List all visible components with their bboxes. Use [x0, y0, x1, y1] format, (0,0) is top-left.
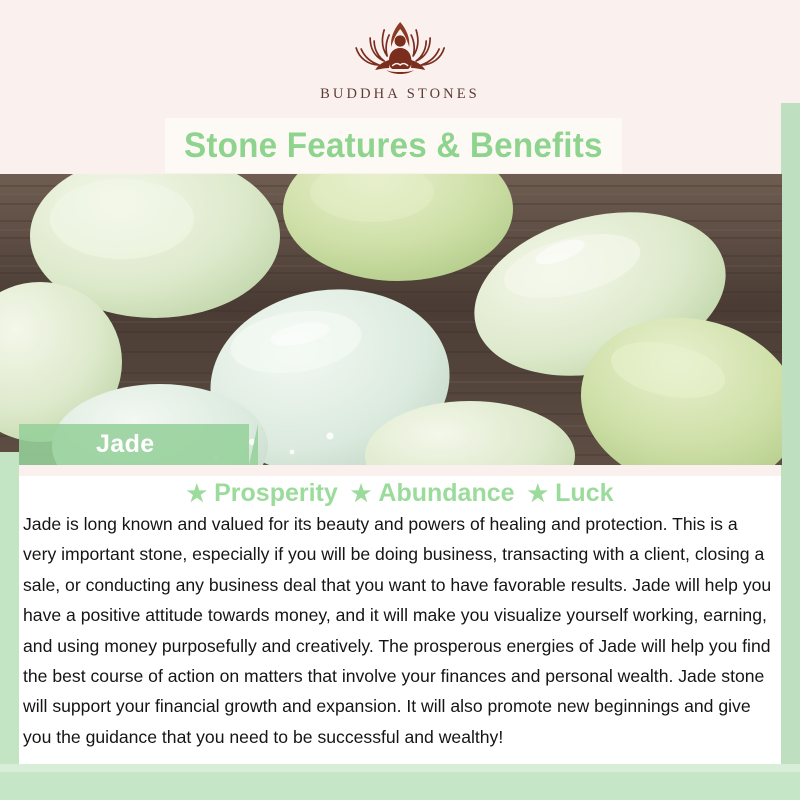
- keyword-label: Abundance: [378, 479, 514, 508]
- page-title: Stone Features & Benefits: [184, 126, 603, 166]
- keyword-label: Prosperity: [214, 479, 338, 508]
- stone-name-label: Jade: [96, 430, 155, 459]
- panel-top-strip: [19, 465, 781, 476]
- stone-photo: [0, 174, 782, 465]
- keyword-item-abundance: ★ Abundance: [351, 479, 515, 508]
- accent-strip-right: [781, 103, 800, 800]
- star-icon: ★: [528, 482, 549, 505]
- header: BUDDHA STONES: [0, 0, 800, 118]
- stone-description: Jade is long known and valued for its be…: [19, 509, 781, 752]
- lotus-meditation-icon: [332, 16, 468, 82]
- keyword-row: ★ Prosperity ★ Abundance ★ Luck: [19, 477, 781, 509]
- accent-strip-left-bottom: [0, 452, 19, 800]
- brand-logo: BUDDHA STONES: [320, 16, 480, 103]
- star-icon: ★: [186, 482, 207, 505]
- brand-name: BUDDHA STONES: [320, 86, 480, 103]
- keyword-item-prosperity: ★ Prosperity: [186, 479, 337, 508]
- keyword-item-luck: ★ Luck: [528, 479, 614, 508]
- star-icon: ★: [351, 482, 372, 505]
- keyword-label: Luck: [555, 479, 613, 508]
- accent-bottom-bar: [0, 772, 800, 800]
- stone-name-banner: Jade: [19, 424, 249, 465]
- infographic-page: BUDDHA STONES Stone Features & Benefits: [0, 0, 800, 800]
- section-title-band: Stone Features & Benefits: [165, 118, 622, 173]
- stone-photo-illustration: [0, 174, 782, 465]
